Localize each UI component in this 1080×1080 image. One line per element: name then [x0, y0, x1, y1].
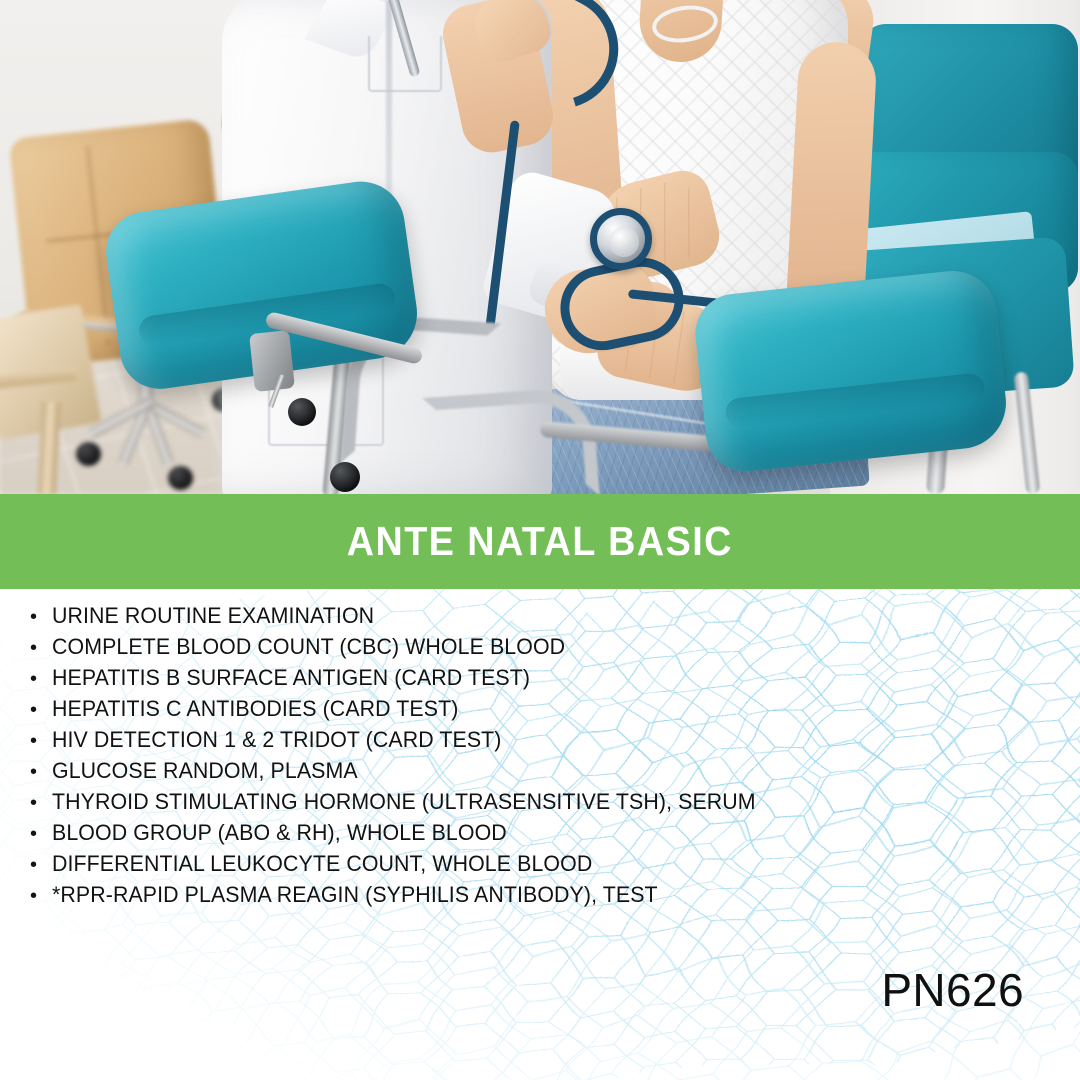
bullet-icon: •	[30, 726, 52, 757]
list-item: • HEPATITIS B SURFACE ANTIGEN (CARD TEST…	[0, 662, 1080, 693]
antenatal-package-poster: ANTE NATAL BASIC	[0, 0, 1080, 1080]
list-item: • COMPLETE BLOOD COUNT (CBC) WHOLE BLOOD	[0, 631, 1080, 662]
bullet-icon: •	[30, 757, 52, 788]
stirrup-pad-right	[692, 267, 1011, 476]
test-list: • URINE ROUTINE EXAMINATION • COMPLETE B…	[0, 600, 1080, 910]
list-item: • HEPATITIS C ANTIBODIES (CARD TEST)	[0, 693, 1080, 724]
test-name: GLUCOSE RANDOM, PLASMA	[52, 755, 358, 786]
bullet-icon: •	[30, 788, 52, 819]
bullet-icon: •	[30, 633, 52, 664]
stirrup-adjust-knob-lower	[330, 462, 360, 492]
exam-chair-frame-secondary	[422, 386, 599, 494]
list-item: • GLUCOSE RANDOM, PLASMA	[0, 755, 1080, 786]
bullet-icon: •	[30, 695, 52, 726]
test-name: URINE ROUTINE EXAMINATION	[52, 600, 374, 631]
bullet-icon: •	[30, 850, 52, 881]
bullet-icon: •	[30, 602, 52, 633]
test-name: DIFFERENTIAL LEUKOCYTE COUNT, WHOLE BLOO…	[52, 848, 592, 879]
chair-caster	[168, 466, 193, 490]
list-item: • URINE ROUTINE EXAMINATION	[0, 600, 1080, 631]
list-item: • THYROID STIMULATING HORMONE (ULTRASENS…	[0, 786, 1080, 817]
clinic-photo	[0, 0, 1080, 494]
test-name: *RPR-RAPID PLASMA REAGIN (SYPHILIS ANTIB…	[52, 879, 658, 910]
bullet-icon: •	[30, 664, 52, 695]
list-item: • *RPR-RAPID PLASMA REAGIN (SYPHILIS ANT…	[0, 879, 1080, 910]
bullet-icon: •	[30, 881, 52, 912]
test-name: THYROID STIMULATING HORMONE (ULTRASENSIT…	[52, 786, 756, 817]
test-name: HEPATITIS B SURFACE ANTIGEN (CARD TEST)	[52, 662, 530, 693]
list-item: • BLOOD GROUP (ABO & RH), WHOLE BLOOD	[0, 817, 1080, 848]
list-item: • DIFFERENTIAL LEUKOCYTE COUNT, WHOLE BL…	[0, 848, 1080, 879]
page-title: ANTE NATAL BASIC	[347, 518, 733, 565]
bullet-icon: •	[30, 819, 52, 850]
list-item: • HIV DETECTION 1 & 2 TRIDOT (CARD TEST)	[0, 724, 1080, 755]
test-name: HIV DETECTION 1 & 2 TRIDOT (CARD TEST)	[52, 724, 502, 755]
test-name: BLOOD GROUP (ABO & RH), WHOLE BLOOD	[52, 817, 507, 848]
test-name: COMPLETE BLOOD COUNT (CBC) WHOLE BLOOD	[52, 631, 565, 662]
stirrup-clamp	[249, 330, 295, 392]
stethoscope-chestpiece	[590, 208, 652, 270]
package-code: PN626	[881, 963, 1024, 1017]
chair-caster	[76, 442, 101, 466]
stirrup-adjust-knob	[288, 398, 316, 426]
test-name: HEPATITIS C ANTIBODIES (CARD TEST)	[52, 693, 458, 724]
title-banner: ANTE NATAL BASIC	[0, 494, 1080, 589]
